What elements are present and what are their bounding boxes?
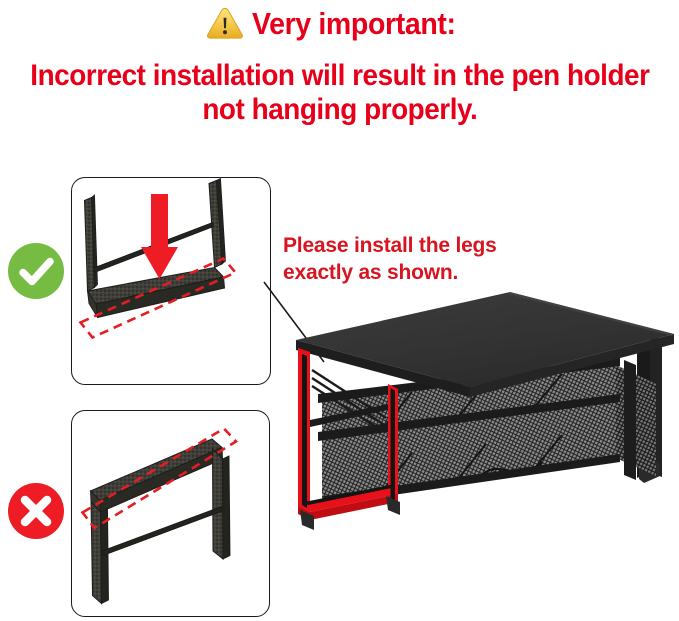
correct-leg-orientation-diagram (71, 177, 271, 385)
warning-header: Very important: Incorrect installation w… (0, 0, 679, 140)
warning-title-row: Very important: (0, 6, 679, 42)
x-circle-icon (8, 483, 64, 539)
warning-line-1: Incorrect installation will result in th… (0, 59, 679, 93)
incorrect-leg-orientation-diagram (71, 410, 270, 617)
check-circle-icon (8, 243, 64, 299)
warning-line-2: not hanging properly. (0, 93, 679, 127)
warning-triangle-icon (206, 6, 244, 40)
desk-organizer-monitor-stand (284, 272, 679, 547)
red-down-arrow-icon (141, 194, 178, 279)
page-title: Very important: (252, 6, 456, 42)
instruction-line-1: Please install the legs (283, 232, 583, 259)
front-right-post (624, 360, 636, 480)
